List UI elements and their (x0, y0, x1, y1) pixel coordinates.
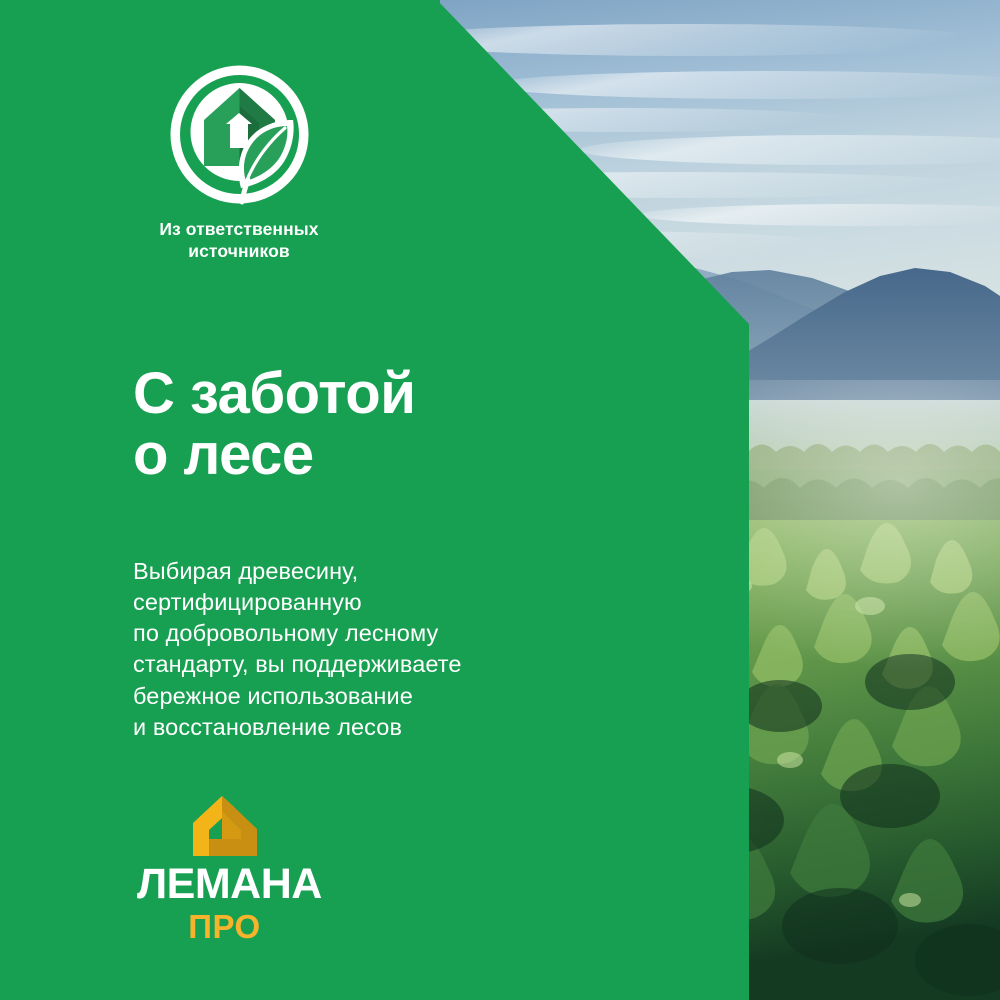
eco-certification-badge: Из ответственных источников (133, 62, 345, 263)
brand-sub-text: ПРО (137, 910, 312, 943)
poster-canvas: Из ответственных источников С заботой о … (0, 0, 1000, 1000)
body-paragraph: Выбирая древесину, сертифицированную по … (133, 556, 462, 744)
page-title: С заботой о лесе (133, 363, 415, 486)
brand-name-text: ЛЕМАНА (137, 863, 312, 906)
eco-badge-caption: Из ответственных источников (133, 219, 345, 263)
lemana-house-icon (189, 793, 261, 856)
lemana-pro-logo: ЛЕМАНА ПРО (137, 793, 312, 943)
eco-house-leaf-circle-icon (167, 62, 312, 207)
